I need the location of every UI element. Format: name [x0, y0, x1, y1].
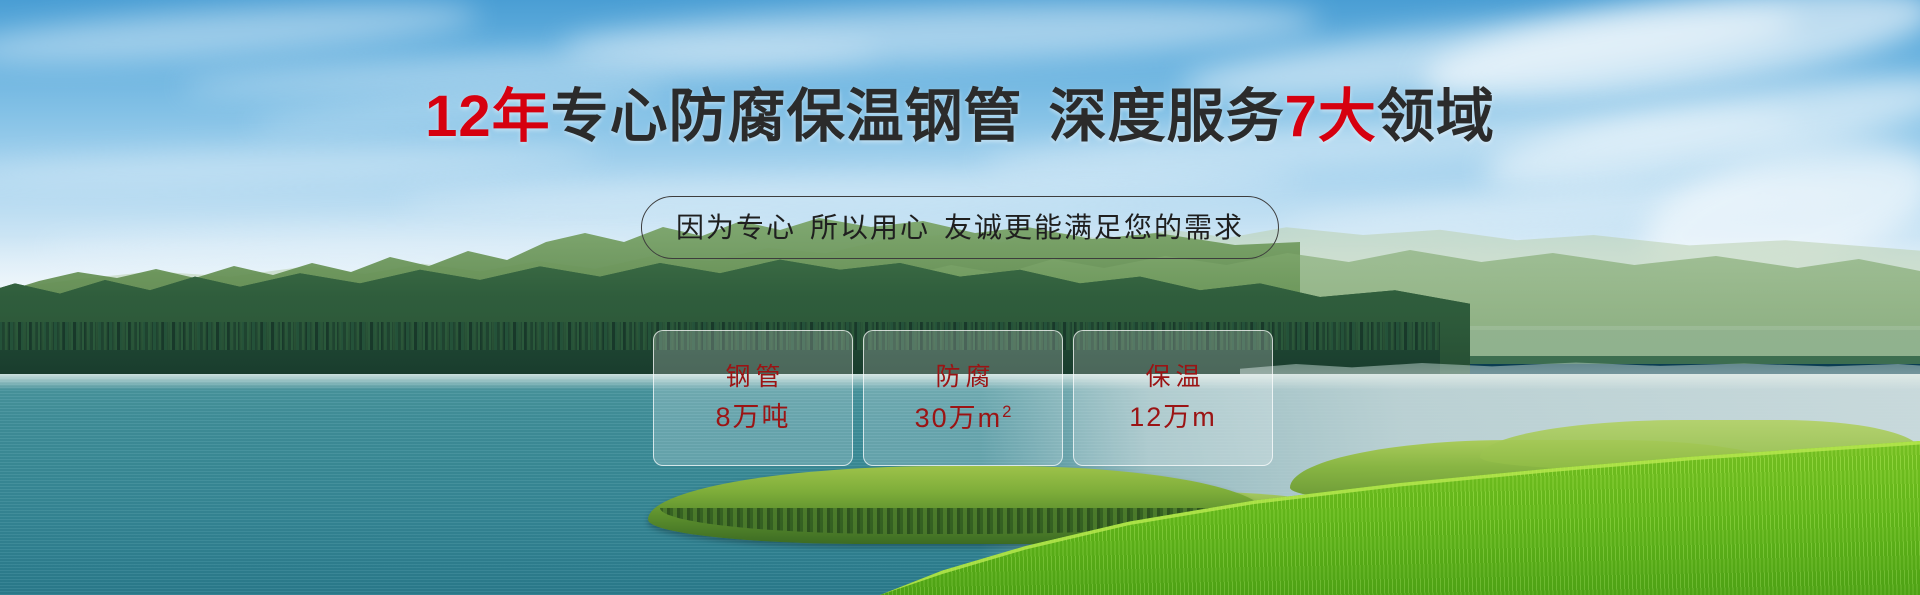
banner-subtitle-pill: 因为专心所以用心友诚更能满足您的需求 — [641, 196, 1279, 259]
stat-label: 保温 — [1140, 365, 1205, 390]
stat-card-steel-pipe: 钢管 8万吨 — [653, 330, 853, 466]
banner-headline: 12年专心防腐保温钢管深度服务7大领域 — [0, 88, 1920, 146]
headline-years-highlight: 12年 — [425, 84, 551, 149]
stat-value-text: 8万吨 — [715, 402, 790, 432]
stat-value: 8万吨 — [715, 404, 790, 431]
subtitle-segment-3: 友诚更能满足您的需求 — [944, 212, 1244, 243]
banner-content: 12年专心防腐保温钢管深度服务7大领域 因为专心所以用心友诚更能满足您的需求 钢… — [0, 0, 1920, 595]
stat-value: 30万m2 — [915, 404, 1012, 432]
subtitle-segment-1: 因为专心 — [676, 212, 796, 243]
headline-fields-highlight: 7大 — [1285, 84, 1377, 149]
stat-card-anticorrosion: 防腐 30万m2 — [863, 330, 1063, 466]
headline-main-text: 专心防腐保温钢管 — [551, 84, 1023, 149]
stat-label: 钢管 — [720, 365, 785, 390]
stat-label: 防腐 — [930, 365, 995, 390]
stat-value-superscript: 2 — [1002, 402, 1011, 421]
stat-value-text: 12万m — [1129, 402, 1217, 432]
hero-banner: 12年专心防腐保温钢管深度服务7大领域 因为专心所以用心友诚更能满足您的需求 钢… — [0, 0, 1920, 595]
stat-card-group: 钢管 8万吨 防腐 30万m2 保温 12万m — [653, 330, 1273, 466]
stat-value-text: 30万m — [915, 403, 1003, 433]
stat-value: 12万m — [1129, 404, 1217, 431]
stat-card-insulation: 保温 12万m — [1073, 330, 1273, 466]
headline-service-text: 深度服务 — [1049, 84, 1285, 149]
headline-fields-text: 领域 — [1377, 84, 1495, 149]
subtitle-segment-2: 所以用心 — [810, 212, 930, 243]
